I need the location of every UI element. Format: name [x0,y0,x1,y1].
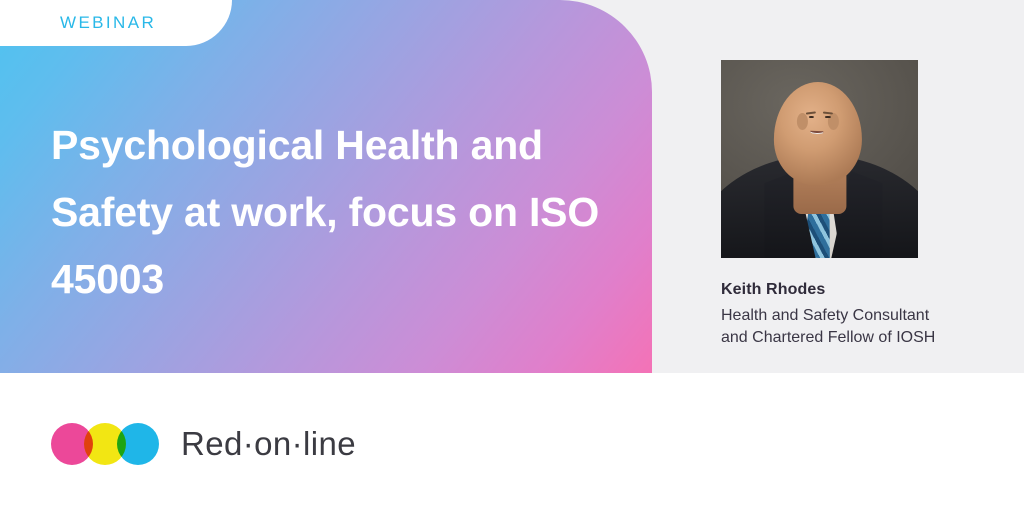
speaker-photo [721,60,918,258]
photo-mouth [810,130,823,134]
hero-panel: WEBINAR Psychological Health and Safety … [0,0,652,373]
photo-brow-left [806,111,816,115]
speaker-role: Health and Safety Consultant and Charter… [721,305,935,349]
photo-head [773,82,862,185]
speaker-name: Keith Rhodes [721,281,825,299]
logo-dots [51,423,167,465]
webinar-promo-banner: WEBINAR Psychological Health and Safety … [0,0,1024,512]
photo-brow-right [823,111,833,114]
logo-dot-cyan-icon [117,423,159,465]
brand-logo[interactable]: Red·on·line [51,423,356,465]
photo-eye-right [825,116,830,119]
logo-wordmark: Red·on·line [181,425,356,463]
eyebrow-label: WEBINAR [60,13,156,33]
page-title: Psychological Health and Safety at work,… [51,112,621,313]
photo-ear-left [796,113,808,131]
footer-bar: Red·on·line Click here to watch [0,373,1024,512]
photo-eye-left [808,116,813,119]
